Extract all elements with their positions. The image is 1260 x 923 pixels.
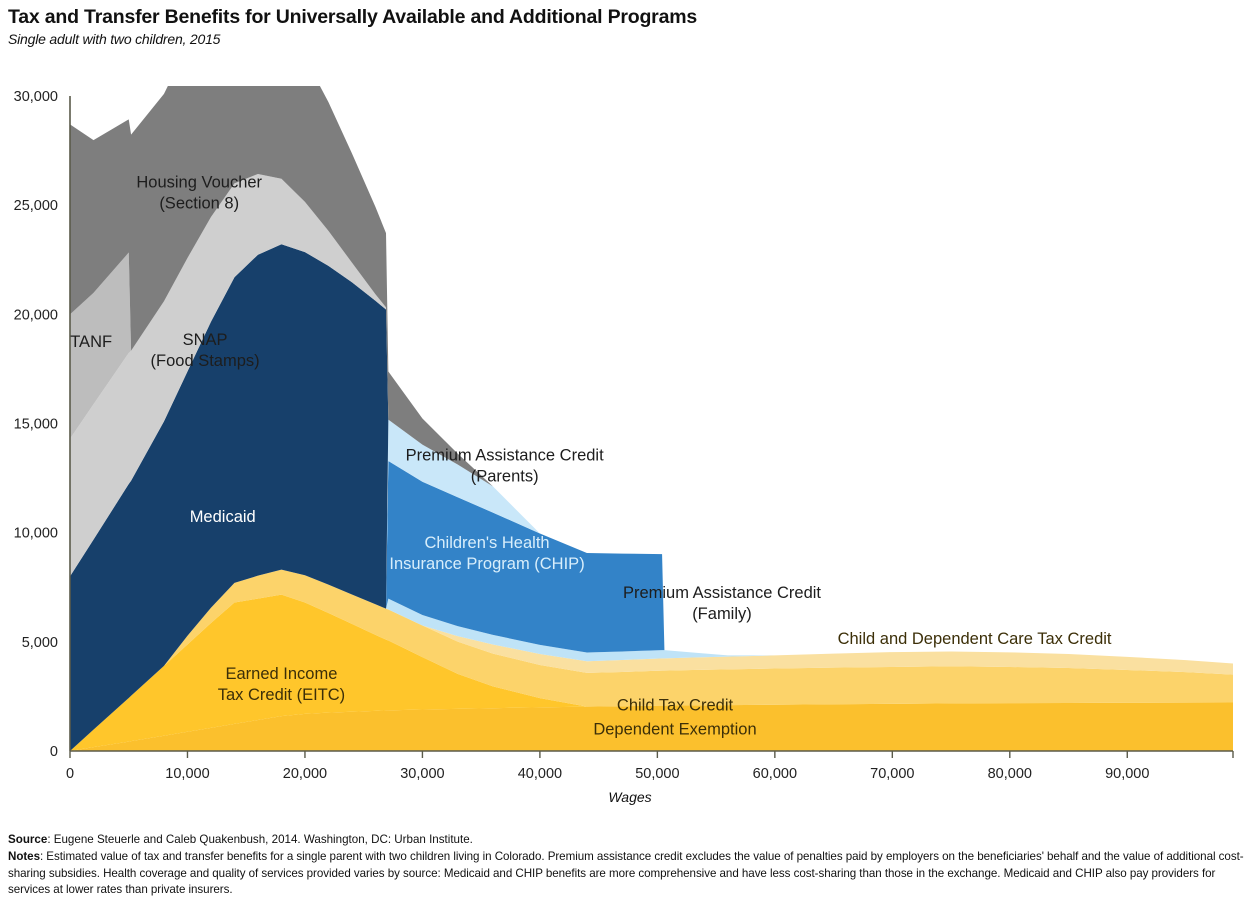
page-title: Tax and Transfer Benefits for Universall… bbox=[8, 6, 1248, 29]
series-label-line: Child Tax Credit bbox=[617, 697, 734, 715]
series-label-line: Dependent Exemption bbox=[593, 721, 756, 739]
notes-note: Notes: Estimated value of tax and transf… bbox=[8, 849, 1252, 898]
source-note: Source: Eugene Steuerle and Caleb Quaken… bbox=[8, 832, 1252, 848]
series-label-line: SNAP bbox=[183, 331, 228, 349]
chart-page: Tax and Transfer Benefits for Universall… bbox=[0, 0, 1260, 923]
y-tick-label: 30,000 bbox=[14, 89, 58, 105]
series-label-child-tax-credit: Child Tax Credit bbox=[617, 697, 734, 715]
y-tick-label: 10,000 bbox=[14, 526, 58, 542]
x-tick-label: 90,000 bbox=[1105, 766, 1149, 782]
series-label-line: Premium Assistance Credit bbox=[623, 584, 821, 602]
series-label-line: Premium Assistance Credit bbox=[406, 447, 604, 465]
series-label-line: Insurance Program (CHIP) bbox=[389, 555, 584, 573]
notes-label: Notes bbox=[8, 850, 40, 863]
series-label-dependent-exemption: Dependent Exemption bbox=[593, 721, 756, 739]
y-tick-label: 5,000 bbox=[22, 635, 58, 651]
series-label-line: Children's Health bbox=[424, 534, 549, 552]
x-tick-label: 0 bbox=[66, 766, 74, 782]
series-label-child-dependent-care-tax-credit: Child and Dependent Care Tax Credit bbox=[838, 630, 1112, 648]
x-tick-label: 20,000 bbox=[283, 766, 327, 782]
chart-footnotes: Source: Eugene Steuerle and Caleb Quaken… bbox=[8, 832, 1252, 899]
series-label-line: Medicaid bbox=[190, 508, 256, 526]
notes-text: : Estimated value of tax and transfer be… bbox=[8, 850, 1244, 896]
series-label-line: Tax Credit (EITC) bbox=[218, 686, 345, 704]
x-tick-label: 50,000 bbox=[635, 766, 679, 782]
series-label-line: TANF bbox=[70, 333, 112, 351]
series-label-medicaid: Medicaid bbox=[190, 508, 256, 526]
y-tick-label: 20,000 bbox=[14, 307, 58, 323]
source-label: Source bbox=[8, 833, 47, 846]
y-tick-label: 15,000 bbox=[14, 417, 58, 433]
x-axis-title: Wages bbox=[0, 789, 1260, 805]
series-label-tanf: TANF bbox=[70, 333, 112, 351]
series-label-line: Housing Voucher bbox=[136, 174, 262, 192]
x-tick-label: 60,000 bbox=[753, 766, 797, 782]
series-label-line: (Section 8) bbox=[159, 195, 239, 213]
x-tick-label: 80,000 bbox=[988, 766, 1032, 782]
source-text: : Eugene Steuerle and Caleb Quakenbush, … bbox=[47, 833, 473, 846]
series-label-line: Child and Dependent Care Tax Credit bbox=[838, 630, 1112, 648]
stacked-area-chart: 05,00010,00015,00020,00025,00030,000010,… bbox=[0, 86, 1260, 786]
x-tick-label: 10,000 bbox=[165, 766, 209, 782]
chart-header: Tax and Transfer Benefits for Universall… bbox=[8, 6, 1248, 47]
series-label-line: Earned Income bbox=[226, 665, 338, 683]
chart-plot-area: 05,00010,00015,00020,00025,00030,000010,… bbox=[0, 86, 1260, 786]
x-tick-label: 40,000 bbox=[518, 766, 562, 782]
y-tick-label: 0 bbox=[50, 744, 58, 760]
chart-subtitle: Single adult with two children, 2015 bbox=[8, 31, 1248, 47]
series-label-line: (Parents) bbox=[471, 468, 539, 486]
series-label-line: (Food Stamps) bbox=[151, 352, 260, 370]
y-tick-label: 25,000 bbox=[14, 198, 58, 214]
series-label-line: (Family) bbox=[692, 605, 752, 623]
x-tick-label: 70,000 bbox=[870, 766, 914, 782]
x-tick-label: 30,000 bbox=[400, 766, 444, 782]
